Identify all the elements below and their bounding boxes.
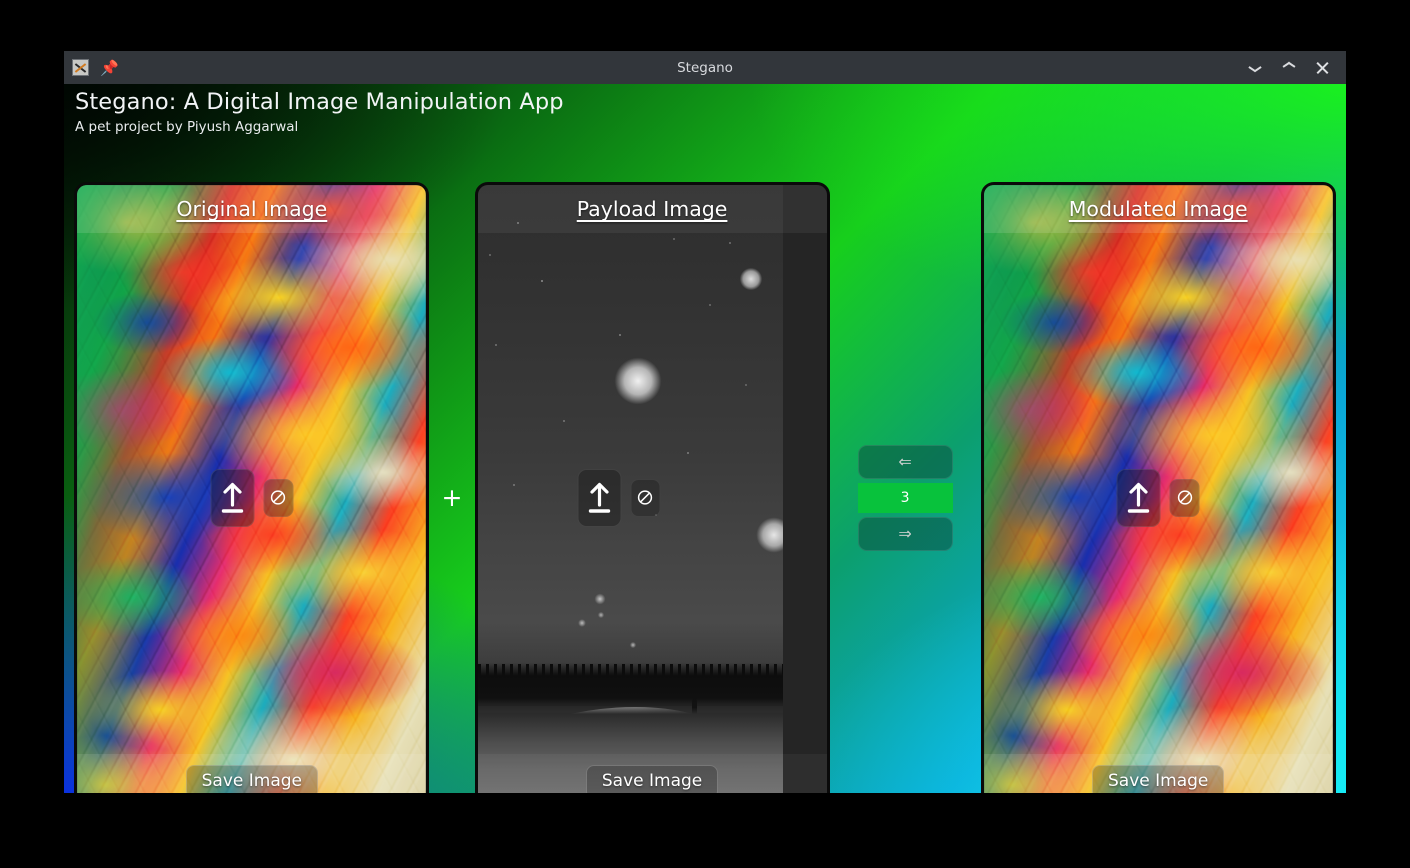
chevron-down-icon	[1249, 64, 1261, 72]
desktop-background: 📌 Stegano Stegano: A Digital Image Manip…	[0, 0, 1410, 868]
xorg-app-icon	[72, 59, 89, 76]
bit-depth-controls: ⇐ ⇒	[830, 182, 981, 793]
modulated-save-bar: Save Image	[984, 754, 1333, 793]
original-image-panel[interactable]: Original Image	[74, 182, 429, 793]
payload-panel-header: Payload Image	[478, 185, 827, 233]
clear-icon	[1176, 489, 1193, 506]
panels-row: Original Image	[64, 182, 1346, 793]
maximize-button[interactable]	[1281, 60, 1297, 76]
right-spacer	[1336, 182, 1346, 183]
payload-panel-title: Payload Image	[577, 197, 728, 221]
original-save-image-button[interactable]: Save Image	[186, 765, 318, 793]
original-clear-button[interactable]	[263, 479, 293, 517]
left-spacer	[64, 182, 74, 183]
modulated-upload-button[interactable]	[1117, 469, 1161, 527]
chevron-up-icon	[1283, 64, 1295, 72]
payload-clear-button[interactable]	[630, 479, 660, 517]
payload-figure	[692, 696, 697, 716]
application-body: Stegano: A Digital Image Manipulation Ap…	[64, 84, 1346, 793]
page-header: Stegano: A Digital Image Manipulation Ap…	[75, 87, 564, 136]
titlebar-left-icons: 📌	[72, 59, 116, 76]
window-title: Stegano	[64, 60, 1346, 76]
modulated-panel-title: Modulated Image	[1069, 197, 1248, 221]
upload-icon	[586, 481, 612, 515]
upload-icon	[1126, 481, 1152, 515]
original-panel-actions	[210, 469, 293, 527]
payload-image-panel[interactable]: Payload Image	[475, 182, 830, 793]
upload-icon	[219, 481, 245, 515]
original-panel-header: Original Image	[77, 185, 426, 233]
original-panel-title: Original Image	[176, 197, 327, 221]
modulated-panel-actions	[1117, 469, 1200, 527]
decrease-bits-button[interactable]: ⇐	[858, 445, 953, 479]
payload-panel-actions	[577, 469, 660, 527]
modulated-save-image-button[interactable]: Save Image	[1092, 765, 1224, 793]
modulated-panel-header: Modulated Image	[984, 185, 1333, 233]
close-button[interactable]	[1315, 60, 1331, 76]
original-upload-button[interactable]	[210, 469, 254, 527]
payload-panel-filler	[783, 185, 827, 793]
window-controls	[1247, 60, 1338, 76]
modulated-image-panel[interactable]: Modulated Image	[981, 182, 1336, 793]
clear-icon	[270, 489, 287, 506]
bits-input[interactable]	[858, 483, 953, 513]
payload-save-bar: Save Image	[478, 754, 827, 793]
page-title: Stegano: A Digital Image Manipulation Ap…	[75, 87, 564, 117]
window-titlebar: 📌 Stegano	[64, 51, 1346, 84]
modulated-clear-button[interactable]	[1170, 479, 1200, 517]
increase-bits-button[interactable]: ⇒	[858, 517, 953, 551]
stegano-application-window: 📌 Stegano Stegano: A Digital Image Manip…	[64, 51, 1346, 793]
minimize-button[interactable]	[1247, 60, 1263, 76]
original-save-bar: Save Image	[77, 754, 426, 793]
payload-upload-button[interactable]	[577, 469, 621, 527]
clear-icon	[637, 489, 654, 506]
page-subtitle: A pet project by Piyush Aggarwal	[75, 118, 564, 136]
pin-icon[interactable]: 📌	[100, 60, 116, 76]
payload-save-image-button[interactable]: Save Image	[586, 765, 718, 793]
plus-separator: +	[429, 182, 474, 793]
